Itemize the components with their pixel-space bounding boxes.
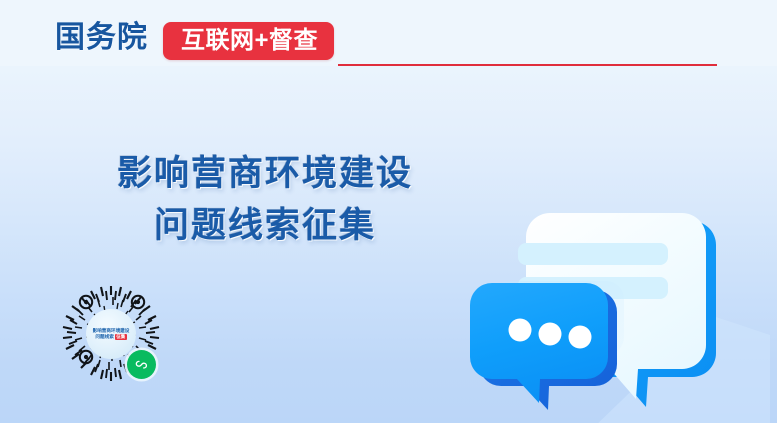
qr-center-line-2-row: 问题线索 征集	[95, 334, 126, 341]
header-divider-rule	[338, 64, 717, 66]
promo-banner: 国务院 互联网+督查 影响营商环境建设 问题线索征集	[0, 0, 777, 423]
qr-code[interactable]: 影响营商环境建设 问题线索 征集	[55, 278, 167, 390]
qr-center-tag: 征集	[115, 334, 127, 341]
page-title: 影响营商环境建设 问题线索征集	[60, 148, 470, 252]
qr-center-label: 影响营商环境建设 问题线索 征集	[86, 309, 136, 359]
qr-center-line-2: 问题线索	[95, 334, 113, 340]
gov-logo-text: 国务院	[55, 22, 148, 54]
wechat-miniprogram-icon	[127, 350, 156, 379]
supervision-badge-label: 互联网+督查	[181, 29, 318, 53]
chat-bubble-illustration	[470, 185, 770, 423]
front-chat-bubble	[470, 283, 617, 410]
page-title-line-1: 影响营商环境建设	[60, 148, 470, 200]
banner-header: 国务院 互联网+督查	[0, 0, 777, 68]
supervision-badge: 互联网+督查	[163, 22, 334, 60]
page-title-line-2: 问题线索征集	[60, 200, 470, 252]
